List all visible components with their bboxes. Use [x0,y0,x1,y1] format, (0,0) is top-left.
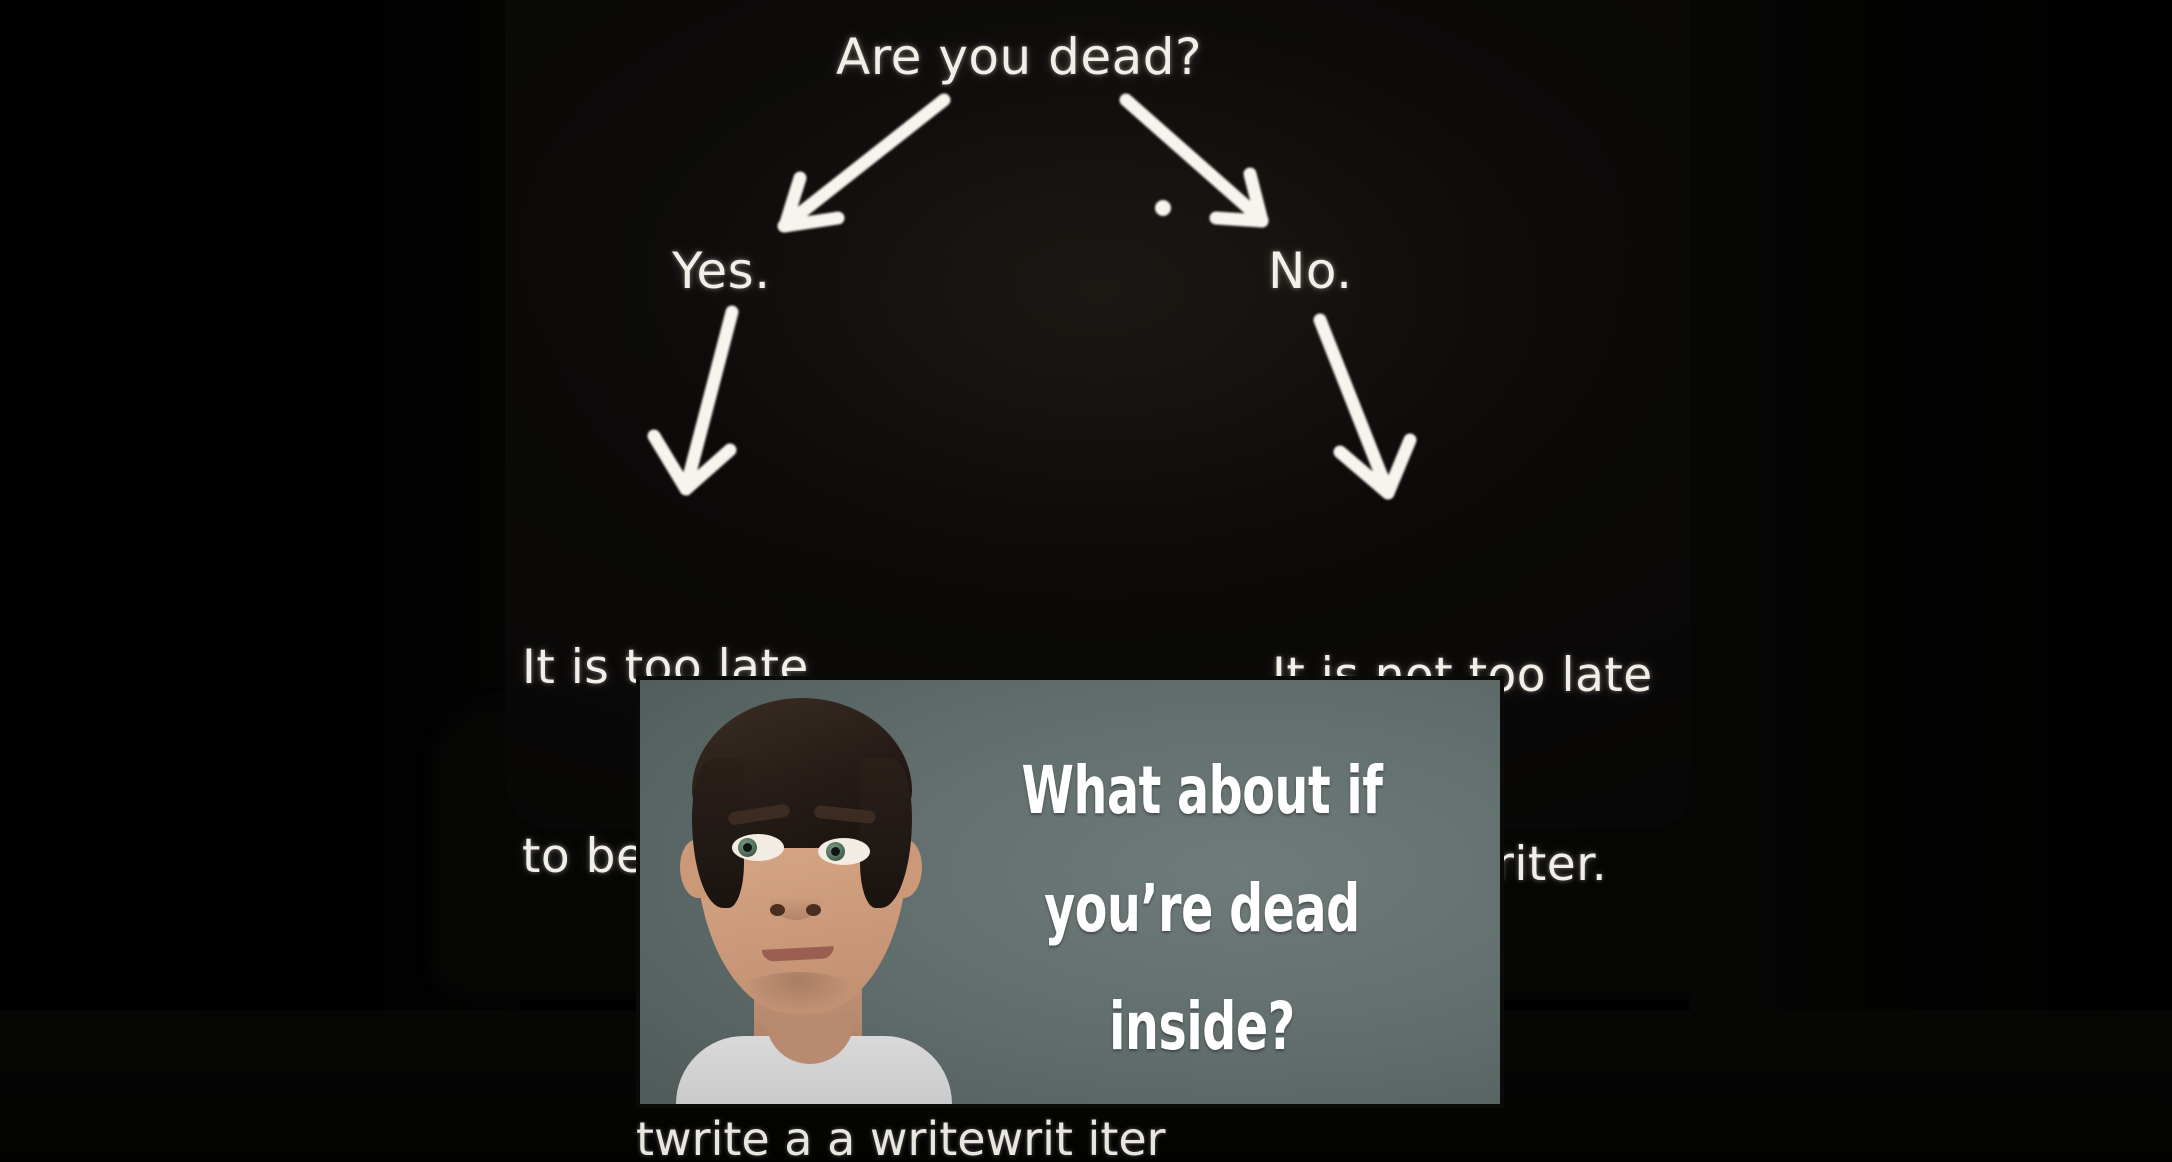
avatar [658,676,958,1104]
flowchart-branch-label-yes: Yes. [672,242,771,300]
right-dark-surround [1690,0,2172,1162]
video-thumbnail-overlay[interactable]: What about if you’re dead inside? [636,676,1504,1108]
thumbnail-caption-line2: you’re dead inside? [978,850,1426,1086]
flowchart-branch-label-no: No. [1268,242,1353,300]
chin-shadow [742,972,854,1012]
pupil-right [831,847,840,856]
screenshot-canvas: Are you dead? Yes. No. It is too late to… [0,0,2172,1162]
thumbnail-caption: What about if you’re dead inside? [978,732,1426,1086]
iris-right [826,842,845,861]
nostril-right [806,904,821,916]
eye-right [818,838,870,865]
nostril-left [770,904,785,916]
bottom-caption-strip: twrite a a writewrit iter [0,1116,2172,1162]
flowchart-root-question: Are you dead? [836,28,1202,86]
iris-left [738,838,757,857]
thumbnail-caption-line1: What about if [1022,752,1383,829]
eye-left [732,834,784,861]
bottom-caption-text: twrite a a writewrit iter [636,1116,1166,1162]
pupil-left [743,843,752,852]
